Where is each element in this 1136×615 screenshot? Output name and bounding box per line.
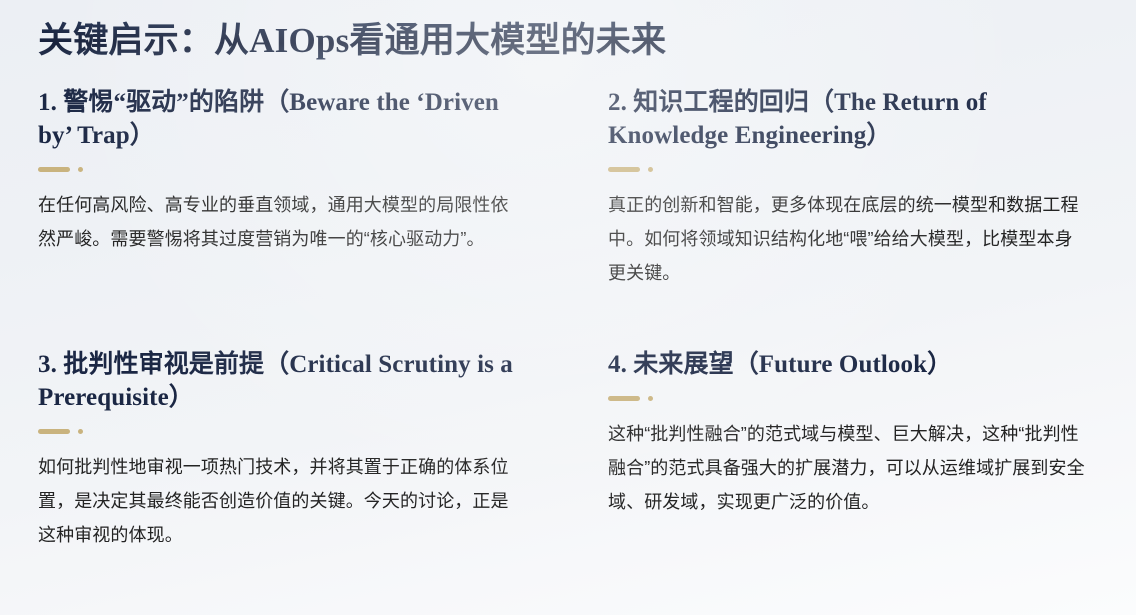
page-title: 关键启示：从AIOps看通用大模型的未来: [38, 18, 1098, 64]
gold-divider-1: [38, 166, 518, 172]
insight-card-2-heading: 2. 知识工程的回归（The Return of Knowledge Engin…: [608, 86, 1088, 152]
insight-card-2: 2. 知识工程的回归（The Return of Knowledge Engin…: [608, 86, 1088, 346]
insight-card-4: 4. 未来展望（Future Outlook） 这种“批判性融合”的范式域与模型…: [608, 346, 1088, 552]
divider-dot-icon: [78, 429, 83, 434]
insight-card-3-heading: 3. 批判性审视是前提（Critical Scrutiny is a Prere…: [38, 348, 518, 414]
insight-card-grid: 1. 警惕“驱动”的陷阱（Beware the ‘Driven by’ Trap…: [38, 86, 1098, 552]
divider-dot-icon: [648, 167, 653, 172]
gold-divider-2: [608, 166, 1088, 172]
insight-card-1: 1. 警惕“驱动”的陷阱（Beware the ‘Driven by’ Trap…: [38, 86, 518, 346]
gold-divider-3: [38, 428, 518, 434]
insight-card-3-body: 如何批判性地审视一项热门技术，并将其置于正确的体系位置，是决定其最终能否创造价值…: [38, 450, 516, 552]
divider-dot-icon: [648, 396, 653, 401]
divider-bar-icon: [38, 429, 70, 434]
divider-bar-icon: [608, 396, 640, 401]
divider-dot-icon: [78, 167, 83, 172]
insight-card-2-body: 真正的创新和智能，更多体现在底层的统一模型和数据工程中。如何将领域知识结构化地“…: [608, 188, 1086, 290]
slide-root: 关键启示：从AIOps看通用大模型的未来 1. 警惕“驱动”的陷阱（Beware…: [0, 0, 1136, 615]
insight-card-1-heading: 1. 警惕“驱动”的陷阱（Beware the ‘Driven by’ Trap…: [38, 86, 518, 152]
insight-card-4-body: 这种“批判性融合”的范式域与模型、巨大解决，这种“批判性融合”的范式具备强大的扩…: [608, 417, 1086, 519]
divider-bar-icon: [38, 167, 70, 172]
insight-card-3: 3. 批判性审视是前提（Critical Scrutiny is a Prere…: [38, 346, 518, 552]
insight-card-1-body: 在任何高风险、高专业的垂直领域，通用大模型的局限性依然严峻。需要警惕将其过度营销…: [38, 188, 516, 256]
gold-divider-4: [608, 395, 1088, 401]
insight-card-4-heading: 4. 未来展望（Future Outlook）: [608, 348, 1088, 381]
divider-bar-icon: [608, 167, 640, 172]
